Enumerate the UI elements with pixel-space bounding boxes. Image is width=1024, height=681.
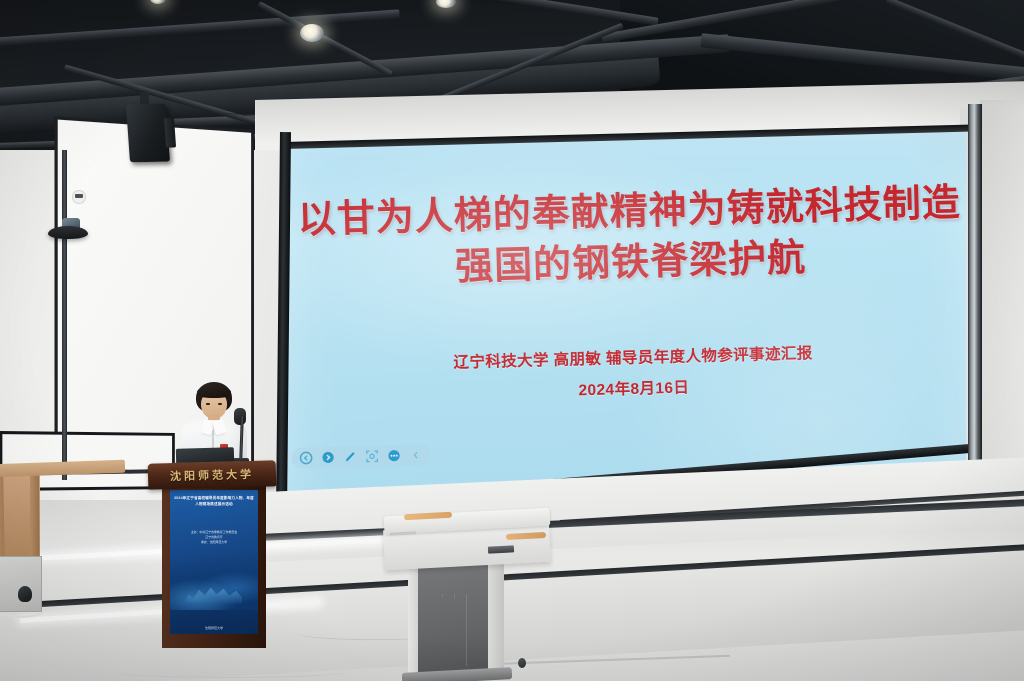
lecture-hall-photo: 以甘为人梯的奉献精神为铸就科技制造 强国的钢铁脊梁护航 辽宁科技大学 高朋敏 辅… <box>0 0 1024 681</box>
center-lectern <box>378 512 558 680</box>
pen-annotate-icon[interactable] <box>343 450 356 463</box>
floor-cable <box>110 664 350 678</box>
lectern-knob <box>518 658 526 668</box>
slideshow-toolbar[interactable] <box>291 444 431 469</box>
ceiling-spotlight <box>300 24 324 42</box>
more-options-icon[interactable] <box>387 449 400 462</box>
podium-banner: 2024年辽宁省高校辅导员年度影响力人物、年度人物现场陈述展示活动 主办：中共辽… <box>170 490 258 634</box>
previous-slide-icon[interactable] <box>299 451 312 464</box>
banner-graphic <box>170 554 258 610</box>
zoom-slide-icon[interactable] <box>365 450 378 463</box>
presenter-eye <box>218 403 222 405</box>
collapse-toolbar-icon[interactable] <box>409 448 422 461</box>
speaker-podium: 2024年辽宁省高校辅导员年度影响力人物、年度人物现场陈述展示活动 主办：中共辽… <box>148 462 276 647</box>
podium-nameplate: 沈阳师范大学 <box>148 460 277 489</box>
banner-org-line-3: 承办：沈阳师范大学 <box>176 540 252 545</box>
slide-subtitle-block: 辽宁科技大学 高朋敏 辅导员年度人物参评事迹汇报 2024年8月16日 <box>295 334 972 414</box>
banner-footer: 沈阳师范大学 <box>170 626 258 630</box>
banner-organizers: 主办：中共辽宁省委教育工作委员会 辽宁省教育厅 承办：沈阳师范大学 <box>176 530 252 546</box>
presenter-fringe <box>197 386 231 398</box>
slide-title: 以甘为人梯的奉献精神为铸就科技制造 强国的钢铁脊梁护航 <box>291 178 969 298</box>
wall-sensor <box>72 190 86 204</box>
next-slide-icon[interactable] <box>321 451 334 464</box>
lectern-front-panel <box>418 564 488 674</box>
ceiling-speaker <box>126 104 170 163</box>
wall-mount-rail <box>62 150 67 480</box>
presenter-eye <box>206 403 210 405</box>
lectern-column <box>486 556 504 672</box>
banner-headline: 2024年辽宁省高校辅导员年度影响力人物、年度人物现场陈述展示活动 <box>174 496 254 507</box>
lectern-vent <box>488 545 514 553</box>
side-desk-leg <box>30 474 39 562</box>
wall-camera <box>48 226 88 239</box>
